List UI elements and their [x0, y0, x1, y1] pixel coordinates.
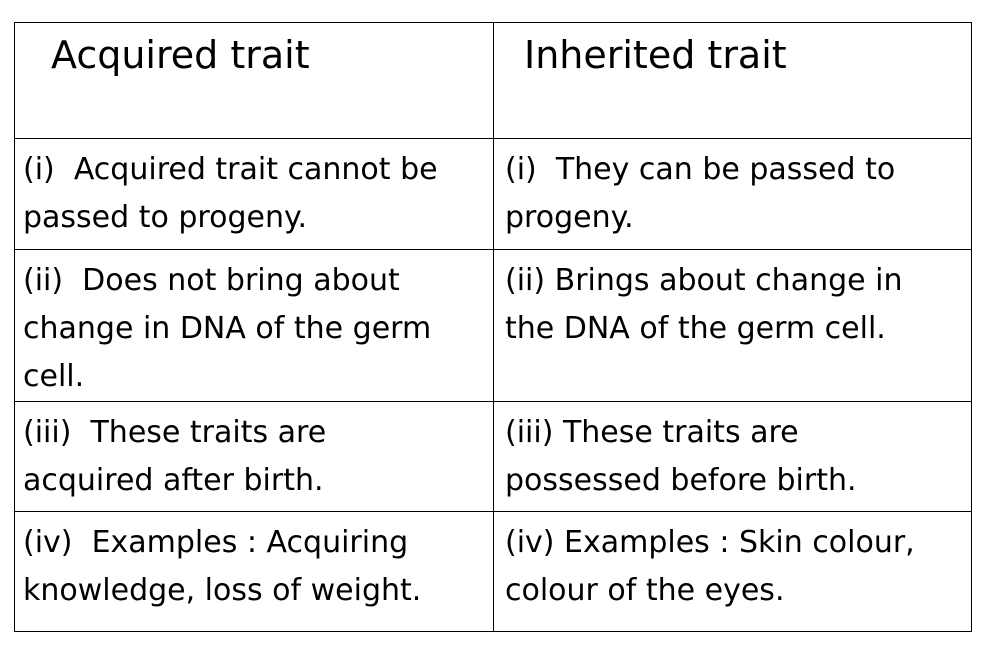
cell-line: (iii) These traits are	[23, 409, 487, 457]
page-root: Acquired trait Inherited trait (i) Acqui…	[0, 0, 992, 646]
table-cell-acquired-4: (iv) Examples : Acquiring knowledge, los…	[15, 512, 494, 632]
cell-line: change in DNA of the germ	[23, 305, 487, 353]
table-cell-acquired-2: (ii) Does not bring about change in DNA …	[15, 250, 494, 402]
cell-text-acquired-4: (iv) Examples : Acquiring knowledge, los…	[15, 512, 493, 615]
cell-line: colour of the eyes.	[505, 567, 965, 615]
cell-text-acquired-3: (iii) These traits are acquired after bi…	[15, 402, 493, 505]
table-cell-inherited-2: (ii) Brings about change in the DNA of t…	[494, 250, 972, 402]
cell-line: (i) Acquired trait cannot be	[23, 146, 487, 194]
cell-line: acquired after birth.	[23, 457, 487, 505]
table-row: (ii) Does not bring about change in DNA …	[15, 250, 972, 402]
cell-text-acquired-2: (ii) Does not bring about change in DNA …	[15, 250, 493, 401]
cell-line: (ii) Does not bring about	[23, 257, 487, 305]
cell-text-inherited-2: (ii) Brings about change in the DNA of t…	[494, 250, 971, 353]
table-body: Acquired trait Inherited trait (i) Acqui…	[15, 23, 972, 632]
table-header-cell-inherited: Inherited trait	[494, 23, 972, 139]
cell-text-inherited-1: (i) They can be passed to progeny.	[494, 139, 971, 242]
cell-text-acquired-1: (i) Acquired trait cannot be passed to p…	[15, 139, 493, 242]
cell-line: passed to progeny.	[23, 194, 487, 242]
cell-line: (i) They can be passed to	[505, 146, 965, 194]
cell-line: the DNA of the germ cell.	[505, 305, 965, 353]
table-cell-inherited-1: (i) They can be passed to progeny.	[494, 139, 972, 250]
table-header-row: Acquired trait Inherited trait	[15, 23, 972, 139]
table-row: (i) Acquired trait cannot be passed to p…	[15, 139, 972, 250]
cell-line: (iv) Examples : Acquiring	[23, 519, 487, 567]
cell-line: (ii) Brings about change in	[505, 257, 965, 305]
column-header-label-inherited: Inherited trait	[494, 23, 971, 77]
cell-line: cell.	[23, 353, 487, 401]
cell-text-inherited-4: (iv) Examples : Skin colour, colour of t…	[494, 512, 971, 615]
cell-line: progeny.	[505, 194, 965, 242]
cell-line: possessed before birth.	[505, 457, 965, 505]
table-header-cell-acquired: Acquired trait	[15, 23, 494, 139]
table-cell-acquired-3: (iii) These traits are acquired after bi…	[15, 402, 494, 512]
column-header-label-acquired: Acquired trait	[15, 23, 493, 77]
comparison-table: Acquired trait Inherited trait (i) Acqui…	[14, 22, 972, 632]
cell-text-inherited-3: (iii) These traits are possessed before …	[494, 402, 971, 505]
table-row: (iv) Examples : Acquiring knowledge, los…	[15, 512, 972, 632]
cell-line: (iv) Examples : Skin colour,	[505, 519, 965, 567]
cell-line: (iii) These traits are	[505, 409, 965, 457]
table-cell-acquired-1: (i) Acquired trait cannot be passed to p…	[15, 139, 494, 250]
table-cell-inherited-3: (iii) These traits are possessed before …	[494, 402, 972, 512]
cell-line: knowledge, loss of weight.	[23, 567, 487, 615]
table-cell-inherited-4: (iv) Examples : Skin colour, colour of t…	[494, 512, 972, 632]
table-row: (iii) These traits are acquired after bi…	[15, 402, 972, 512]
